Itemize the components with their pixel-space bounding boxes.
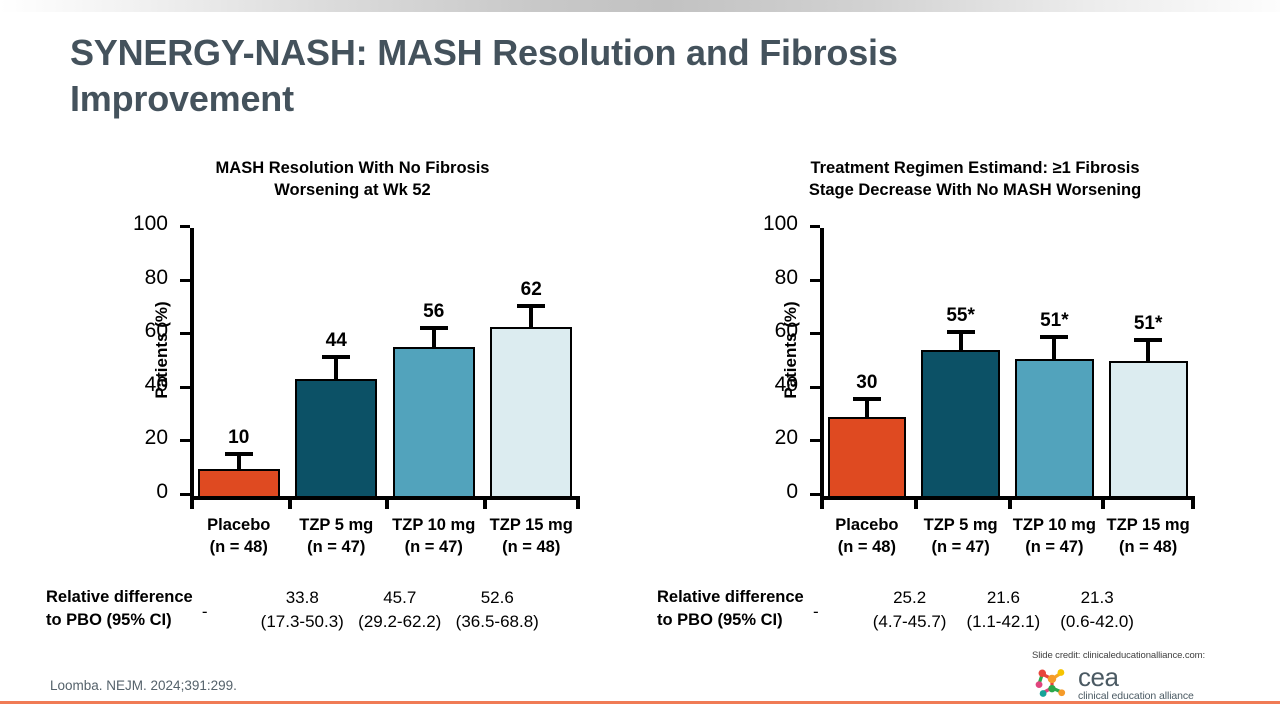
bar-placebo[interactable] — [828, 417, 907, 496]
table-cell-ci: (36.5-68.8) — [445, 610, 551, 634]
table-cell-placebo: - — [769, 602, 863, 622]
bar-value-label: 56 — [385, 301, 483, 323]
y-tick: 100 — [810, 225, 820, 228]
x-axis-label: TZP 15 mg(n = 48) — [1095, 514, 1201, 559]
bar-tzp-10-mg[interactable] — [393, 347, 475, 496]
table-cell: 45.7(29.2-62.2) — [347, 586, 453, 634]
x-axis-label: Placebo(n = 48) — [184, 514, 294, 559]
x-label-n: (n = 48) — [502, 538, 560, 556]
bar-value-label: 51* — [1101, 313, 1195, 335]
x-label-n: (n = 47) — [405, 538, 463, 556]
y-tick-label: 20 — [775, 426, 798, 450]
x-tick — [576, 498, 580, 509]
slide-credit-block: Slide credit: clinicaleducationalliance.… — [1032, 650, 1232, 702]
x-label-name: TZP 15 mg — [490, 516, 573, 534]
error-bar — [237, 456, 241, 469]
table-cell: 52.6(36.5-68.8) — [445, 586, 551, 634]
bar-tzp-5-mg[interactable] — [921, 350, 1000, 496]
bar-tzp-5-mg[interactable] — [295, 379, 377, 496]
plot-area-left: Patients (%) 020406080100 10445662 Place… — [40, 228, 600, 508]
y-tick: 0 — [180, 493, 190, 496]
cea-logo: cea clinical education alliance — [1032, 664, 1232, 702]
bar-slot: 55* — [914, 228, 1008, 496]
y-tick: 80 — [180, 279, 190, 282]
x-tick — [1191, 498, 1195, 509]
error-bar-cap — [225, 452, 253, 456]
x-tick — [1101, 498, 1105, 509]
x-axis-label: TZP 5 mg(n = 47) — [908, 514, 1014, 559]
relative-difference-table-left: Relative difference to PBO (95% CI) - 33… — [46, 586, 616, 642]
x-label-name: TZP 5 mg — [924, 516, 998, 534]
bar-tzp-15-mg[interactable] — [490, 327, 572, 496]
plot-area-right: Patients (%) 020406080100 3055*51*51* Pl… — [655, 228, 1215, 508]
x-label-name: TZP 5 mg — [299, 516, 373, 534]
error-bar-cap — [322, 355, 350, 359]
x-tick — [190, 498, 194, 509]
x-label-name: TZP 10 mg — [392, 516, 475, 534]
bar-tzp-10-mg[interactable] — [1015, 359, 1094, 496]
error-bar — [334, 359, 338, 379]
y-tick-label: 40 — [145, 373, 168, 397]
error-bar — [432, 330, 436, 347]
table-cell: 25.2(4.7-45.7) — [859, 586, 961, 634]
bar-slot: 10 — [190, 228, 288, 496]
error-bar-cap — [1134, 338, 1162, 342]
y-tick: 40 — [180, 386, 190, 389]
error-bar-cap — [1040, 335, 1068, 339]
axes-right: 020406080100 3055*51*51* — [820, 228, 1195, 500]
x-axis-label: TZP 10 mg(n = 47) — [1002, 514, 1108, 559]
table-cell: 33.8(17.3-50.3) — [250, 586, 356, 634]
y-tick: 0 — [810, 493, 820, 496]
table-cell-placebo: - — [156, 602, 254, 622]
y-tick-label: 0 — [156, 480, 168, 504]
chart-panel-left: MASH Resolution With No Fibrosis Worseni… — [40, 158, 600, 578]
bar-slot: 51* — [1008, 228, 1102, 496]
slide-root: SYNERGY-NASH: MASH Resolution and Fibros… — [0, 0, 1280, 720]
x-axis-label: Placebo(n = 48) — [814, 514, 920, 559]
table-cell-value: 33.8 — [250, 586, 356, 610]
table-cell-value: 21.6 — [953, 586, 1055, 610]
bar-value-label: 44 — [288, 330, 386, 352]
bar-group-left: 10445662 — [190, 228, 580, 496]
x-tick — [385, 498, 389, 509]
table-cell-ci: (29.2-62.2) — [347, 610, 453, 634]
x-tick — [483, 498, 487, 509]
table-cell: 21.6(1.1-42.1) — [953, 586, 1055, 634]
y-tick-label: 60 — [775, 319, 798, 343]
table-header-line2: to PBO (95% CI) — [46, 611, 172, 629]
page-title: SYNERGY-NASH: MASH Resolution and Fibros… — [70, 30, 1070, 122]
y-tick-label: 100 — [133, 212, 168, 236]
bar-tzp-15-mg[interactable] — [1109, 361, 1188, 496]
x-label-name: TZP 10 mg — [1013, 516, 1096, 534]
y-tick: 20 — [180, 439, 190, 442]
bar-value-label: 62 — [483, 279, 581, 301]
y-tick: 100 — [180, 225, 190, 228]
chart-title-left: MASH Resolution With No Fibrosis Worseni… — [110, 158, 530, 202]
y-tick-label: 100 — [763, 212, 798, 236]
y-tick-label: 80 — [145, 266, 168, 290]
y-tick-label: 60 — [145, 319, 168, 343]
bar-value-label: 55* — [914, 305, 1008, 327]
table-cell-value: 52.6 — [445, 586, 551, 610]
bar-value-label: 30 — [820, 372, 914, 394]
y-tick-label: 20 — [145, 426, 168, 450]
bar-slot: 51* — [1101, 228, 1195, 496]
error-bar — [959, 334, 963, 350]
bar-slot: 44 — [288, 228, 386, 496]
table-cell-value: 21.3 — [1046, 586, 1148, 610]
table-header-line2: to PBO (95% CI) — [657, 611, 783, 629]
bar-slot: 62 — [483, 228, 581, 496]
y-tick: 40 — [810, 386, 820, 389]
x-label-n: (n = 48) — [838, 538, 896, 556]
table-cell-value: 25.2 — [859, 586, 961, 610]
error-bar — [1052, 339, 1056, 359]
x-label-n: (n = 48) — [210, 538, 268, 556]
bar-placebo[interactable] — [198, 469, 280, 496]
x-tick — [914, 498, 918, 509]
y-tick: 60 — [810, 332, 820, 335]
y-tick: 80 — [810, 279, 820, 282]
cea-logo-tagline: clinical education alliance — [1078, 691, 1194, 702]
bar-slot: 30 — [820, 228, 914, 496]
slide-credit-text: Slide credit: clinicaleducationalliance.… — [1032, 650, 1232, 661]
x-axis-label: TZP 10 mg(n = 47) — [379, 514, 489, 559]
error-bar — [529, 308, 533, 327]
y-tick-label: 0 — [786, 480, 798, 504]
error-bar-cap — [853, 397, 881, 401]
table-cell-ci: (17.3-50.3) — [250, 610, 356, 634]
cea-logo-name: cea — [1078, 664, 1194, 690]
table-cell-ci: (0.6-42.0) — [1046, 610, 1148, 634]
x-axis-label: TZP 15 mg(n = 48) — [477, 514, 587, 559]
citation-text: Loomba. NEJM. 2024;391:299. — [50, 678, 237, 693]
table-cell-value: 45.7 — [347, 586, 453, 610]
error-bar — [865, 401, 869, 417]
x-label-n: (n = 48) — [1119, 538, 1177, 556]
x-axis-labels-right: Placebo(n = 48)TZP 5 mg(n = 47)TZP 10 mg… — [820, 514, 1195, 574]
y-tick: 60 — [180, 332, 190, 335]
x-tick — [820, 498, 824, 509]
error-bar-cap — [420, 326, 448, 330]
x-tick — [1008, 498, 1012, 509]
x-label-name: Placebo — [207, 516, 270, 534]
bar-slot: 56 — [385, 228, 483, 496]
chart-title-right: Treatment Regimen Estimand: ≥1 Fibrosis … — [725, 158, 1145, 202]
y-tick-label: 80 — [775, 266, 798, 290]
error-bar — [1146, 342, 1150, 361]
x-tick — [288, 498, 292, 509]
x-label-n: (n = 47) — [932, 538, 990, 556]
x-label-name: Placebo — [835, 516, 898, 534]
cea-logo-wordmark: cea clinical education alliance — [1078, 664, 1194, 702]
bar-value-label: 51* — [1008, 310, 1102, 332]
table-cell-ci: (4.7-45.7) — [859, 610, 961, 634]
axes-left: 020406080100 10445662 — [190, 228, 580, 500]
error-bar-cap — [947, 330, 975, 334]
table-cell-ci: (1.1-42.1) — [953, 610, 1055, 634]
x-label-n: (n = 47) — [1025, 538, 1083, 556]
x-axis-labels-left: Placebo(n = 48)TZP 5 mg(n = 47)TZP 10 mg… — [190, 514, 580, 574]
x-axis-label: TZP 5 mg(n = 47) — [282, 514, 392, 559]
y-tick: 20 — [810, 439, 820, 442]
x-label-name: TZP 15 mg — [1107, 516, 1190, 534]
y-tick-label: 40 — [775, 373, 798, 397]
relative-difference-table-right: Relative difference to PBO (95% CI) - 25… — [657, 586, 1227, 642]
top-gradient-strip — [0, 0, 1280, 12]
x-label-n: (n = 47) — [307, 538, 365, 556]
bar-value-label: 10 — [190, 427, 288, 449]
cea-molecule-icon — [1032, 666, 1072, 700]
chart-panel-right: Treatment Regimen Estimand: ≥1 Fibrosis … — [655, 158, 1215, 578]
error-bar-cap — [517, 304, 545, 308]
table-cell: 21.3(0.6-42.0) — [1046, 586, 1148, 634]
bar-group-right: 3055*51*51* — [820, 228, 1195, 496]
